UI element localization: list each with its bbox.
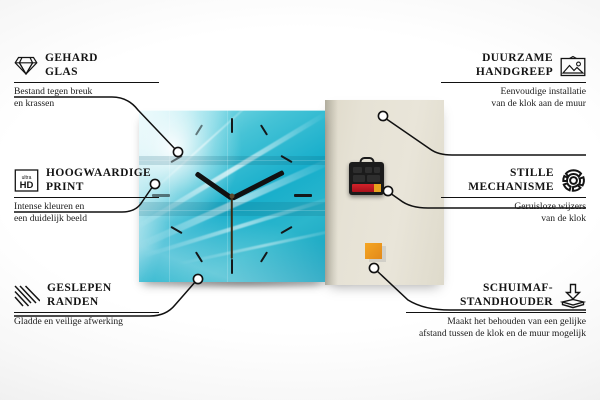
feature-desc-line2: van de klok aan de muur <box>491 98 586 109</box>
feature-desc-line1: Maakt het behouden van een gelijke <box>447 316 586 327</box>
feature-desc-line1: Eenvoudige installatie <box>500 86 586 97</box>
feature-description: Eenvoudige installatie van de klok aan d… <box>441 86 586 109</box>
feature-description: Intense kleuren en een duidelijk beeld <box>14 201 159 224</box>
feature-title: SCHUIMAF- STANDHOUDER <box>460 282 553 309</box>
feature-desc-line1: Bestand tegen breuk <box>14 86 92 97</box>
clock-tick-3 <box>294 194 312 197</box>
feature-title-line1: GEHARD <box>45 52 98 64</box>
clock-second-hand <box>231 197 233 259</box>
feature-title-line2: HANDGREEP <box>476 66 553 78</box>
mechanism-detail <box>365 167 372 173</box>
feature-divider <box>14 197 159 198</box>
foam-spacer-pad <box>365 243 382 259</box>
feature-desc-line2: afstand tussen de klok en de muur mogeli… <box>419 328 586 339</box>
glass-clock-face <box>139 110 325 282</box>
feature-desc-line1: Intense kleuren en <box>14 201 84 212</box>
battery <box>352 184 381 192</box>
clock-back-panel <box>325 100 444 285</box>
clock-mechanism <box>349 162 384 195</box>
bevelled-edges-icon <box>14 285 40 307</box>
feature-desc-line1: Geruisloze wijzers <box>514 201 586 212</box>
hanging-hook-icon <box>359 157 374 167</box>
picture-frame-icon <box>560 55 586 77</box>
diamond-icon <box>14 55 38 76</box>
feature-title-line2: PRINT <box>46 181 84 193</box>
mechanism-detail <box>353 167 362 173</box>
feature-desc-line2: en krassen <box>14 98 54 109</box>
feature-title-line1: GESLEPEN <box>47 282 112 294</box>
feature-title-line1: STILLE <box>510 167 554 179</box>
feature-title: DUURZAME HANDGREEP <box>476 52 553 79</box>
feature-geslepen-randen[interactable]: GESLEPEN RANDEN Gladde en veilige afwerk… <box>14 282 159 328</box>
feature-title-line1: HOOGWAARDIGE <box>46 167 151 179</box>
feature-desc-line2: een duidelijk beeld <box>14 213 87 224</box>
feature-title: STILLE MECHANISME <box>468 167 554 194</box>
feature-header: GESLEPEN RANDEN <box>14 282 159 309</box>
mechanism-detail <box>374 167 380 173</box>
feature-title: GEHARD GLAS <box>45 52 98 79</box>
feature-title: GESLEPEN RANDEN <box>47 282 112 309</box>
mechanism-detail <box>353 175 365 182</box>
feature-title-line1: DUURZAME <box>482 52 553 64</box>
feature-title: HOOGWAARDIGE PRINT <box>46 167 151 194</box>
gear-icon <box>561 168 586 193</box>
feature-desc-line2: van de klok <box>541 213 586 224</box>
feature-stille-mechanisme[interactable]: STILLE MECHANISME Geruisloze wijzers van… <box>441 167 586 225</box>
feature-title-line2: STANDHOUDER <box>460 296 553 308</box>
ultra-hd-icon: ultra HD <box>14 168 39 193</box>
infographic-canvas: GEHARD GLAS Bestand tegen breuk en krass… <box>0 0 600 400</box>
feature-description: Gladde en veilige afwerking <box>14 316 159 328</box>
feature-header: STILLE MECHANISME <box>441 167 586 194</box>
mechanism-detail <box>367 175 380 182</box>
feature-title-line2: RANDEN <box>47 296 99 308</box>
feature-description: Bestand tegen breuk en krassen <box>14 86 159 109</box>
feature-divider <box>406 312 586 313</box>
feature-schuimafstandhouder[interactable]: SCHUIMAF- STANDHOUDER Maakt het behouden… <box>406 282 586 340</box>
feature-divider <box>14 82 159 83</box>
feature-title-line1: SCHUIMAF- <box>483 282 553 294</box>
feature-divider <box>441 82 586 83</box>
feature-header: GEHARD GLAS <box>14 52 159 79</box>
clock-tick-6 <box>231 259 233 274</box>
feature-desc-line1: Gladde en veilige afwerking <box>14 316 123 327</box>
feature-description: Geruisloze wijzers van de klok <box>441 201 586 224</box>
feature-gehard-glas[interactable]: GEHARD GLAS Bestand tegen breuk en krass… <box>14 52 159 110</box>
feature-header: ultra HD HOOGWAARDIGE PRINT <box>14 167 159 194</box>
feature-header: DUURZAME HANDGREEP <box>441 52 586 79</box>
panel-gridline <box>139 160 325 161</box>
panel-edge-shading <box>325 100 338 285</box>
feature-title-line2: GLAS <box>45 66 78 78</box>
feature-header: SCHUIMAF- STANDHOUDER <box>406 282 586 309</box>
feature-hoogwaardige-print[interactable]: ultra HD HOOGWAARDIGE PRINT Intense kleu… <box>14 167 159 225</box>
svg-text:HD: HD <box>20 180 34 191</box>
feature-description: Maakt het behouden van een gelijke afsta… <box>406 316 586 339</box>
battery-terminal <box>374 184 381 192</box>
feature-title-line2: MECHANISME <box>468 181 554 193</box>
feature-divider <box>441 197 586 198</box>
clock-center-hub <box>230 194 235 199</box>
feature-divider <box>14 312 159 313</box>
clock-tick-12 <box>231 118 233 133</box>
feature-duurzame-handgreep[interactable]: DUURZAME HANDGREEP Eenvoudige installati… <box>441 52 586 110</box>
foam-spacer-icon <box>560 283 586 309</box>
